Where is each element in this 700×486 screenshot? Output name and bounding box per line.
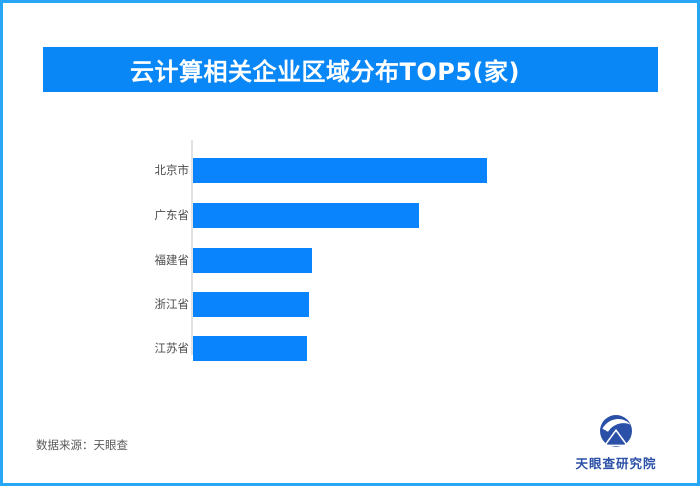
- bar-jiangsu: [193, 336, 307, 361]
- bar-row: 浙江省: [3, 292, 700, 317]
- bar-chart: 北京市 广东省 福建省 浙江省 江苏省: [3, 133, 700, 368]
- bar-row: 北京市: [3, 158, 700, 183]
- bar-label-guangdong: 广东省: [69, 203, 189, 228]
- title-banner: 云计算相关企业区域分布TOP5(家): [43, 47, 658, 92]
- brand-logo: 天眼查研究院: [557, 411, 675, 473]
- bar-zhejiang: [193, 292, 309, 317]
- bar-guangdong: [193, 203, 419, 228]
- infographic-inner: 云计算相关企业区域分布TOP5(家) 北京市 广东省 福建省 浙江省: [3, 3, 697, 483]
- bar-fujian: [193, 248, 312, 273]
- bar-beijing: [193, 158, 487, 183]
- bar-row: 江苏省: [3, 336, 700, 361]
- data-source-label: 数据来源：天眼查: [36, 437, 128, 453]
- bar-label-beijing: 北京市: [69, 158, 189, 183]
- bar-label-fujian: 福建省: [69, 248, 189, 273]
- infographic-canvas: 云计算相关企业区域分布TOP5(家) 北京市 广东省 福建省 浙江省: [0, 0, 700, 486]
- page-title: 云计算相关企业区域分布TOP5(家): [130, 52, 520, 87]
- bar-label-zhejiang: 浙江省: [69, 292, 189, 317]
- brand-logo-text: 天眼查研究院: [575, 453, 656, 472]
- tianyancha-eye-icon: [596, 411, 636, 451]
- bar-row: 福建省: [3, 248, 700, 273]
- bar-label-jiangsu: 江苏省: [69, 336, 189, 361]
- bar-row: 广东省: [3, 203, 700, 228]
